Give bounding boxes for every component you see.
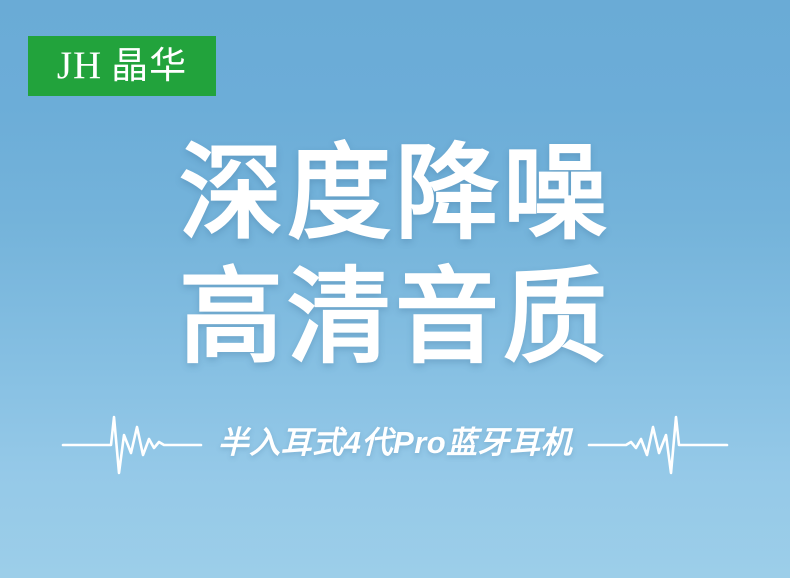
subtitle-text: 半入耳式4代Pro蓝牙耳机 [216,427,574,458]
headline-block: 深度降噪 高清音质 [0,132,790,380]
product-banner: JH 晶华 深度降噪 高清音质 半入耳式4代Pro蓝牙耳机 [0,0,790,578]
brand-logo-latin: JH [57,46,102,85]
brand-logo-chinese: 晶华 [111,47,187,84]
waveform-right-icon [574,405,729,479]
subtitle-block: 半入耳式4代Pro蓝牙耳机 [0,405,790,479]
waveform-left-icon [61,405,216,479]
headline-line-2: 高清音质 [0,256,790,380]
headline-line-1: 深度降噪 [0,132,790,256]
brand-logo: JH 晶华 [28,36,216,96]
